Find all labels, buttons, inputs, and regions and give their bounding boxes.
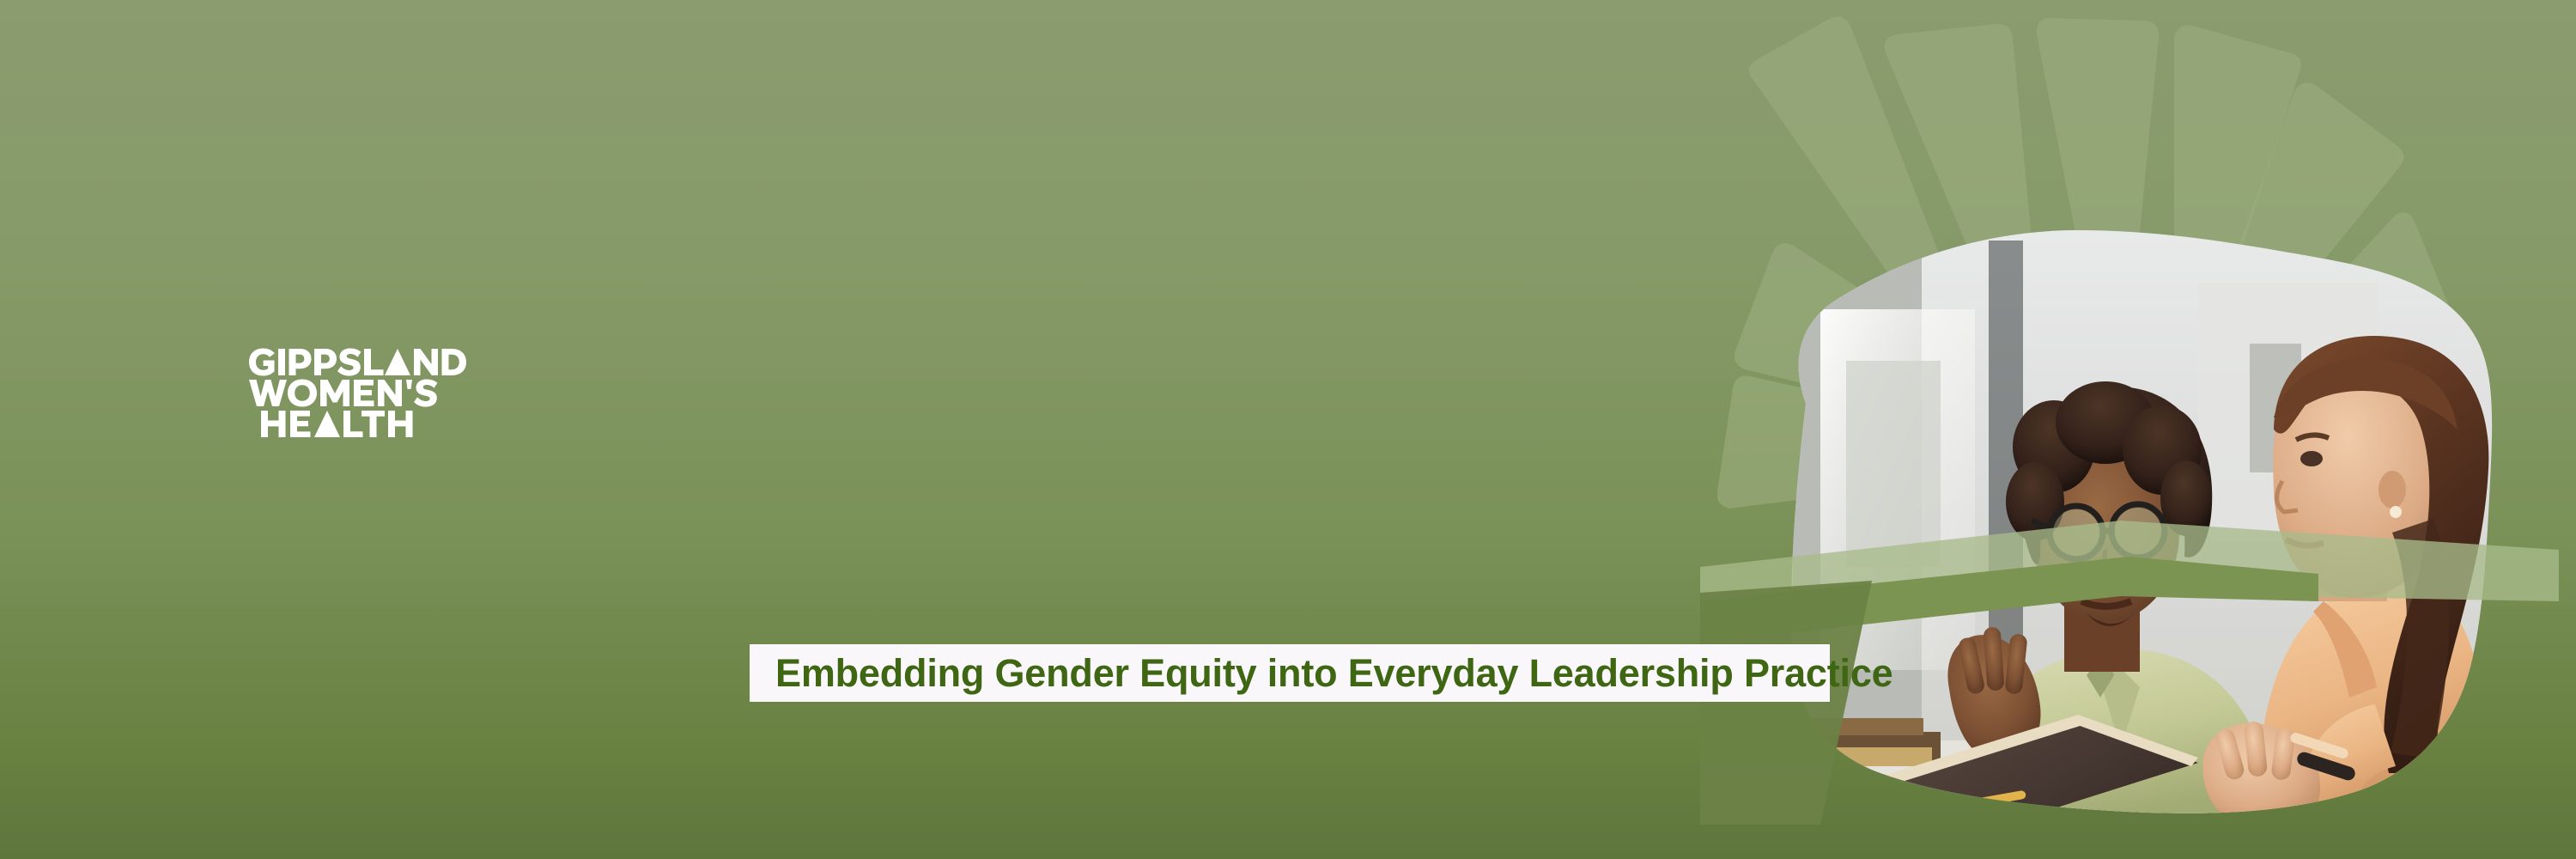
overlay-wedge-lower: [1700, 581, 1872, 825]
page-title: Embedding Gender Equity into Everyday Le…: [775, 654, 1893, 692]
gippsland-womens-health-logo: [247, 344, 505, 438]
event-banner: Embedding Gender Equity into Everyday Le…: [0, 0, 2576, 859]
event-title-box: Embedding Gender Equity into Everyday Le…: [750, 644, 1830, 702]
